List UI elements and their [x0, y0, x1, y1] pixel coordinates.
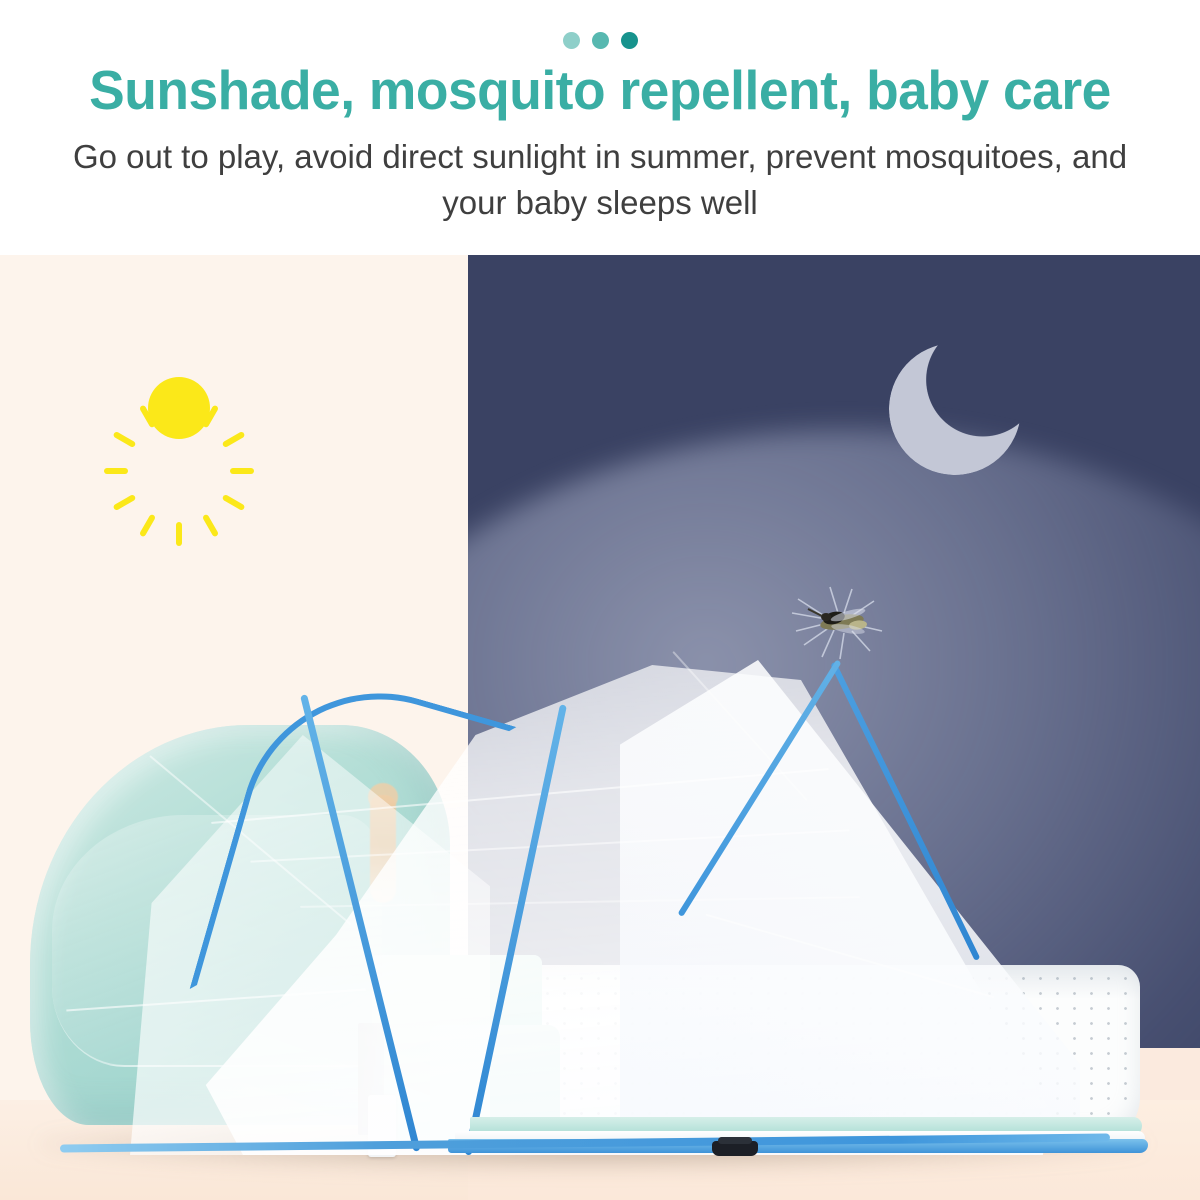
decorative-dots	[0, 32, 1200, 49]
black-clip-handle	[712, 1141, 758, 1156]
dot-light-icon	[563, 32, 580, 49]
page-subtitle: Go out to play, avoid direct sunlight in…	[48, 134, 1153, 225]
dot-medium-icon	[592, 32, 609, 49]
product-promo-poster: Sunshade, mosquito repellent, baby care …	[0, 0, 1200, 1200]
page-title: Sunshade, mosquito repellent, baby care	[18, 58, 1182, 122]
scene-imagery	[0, 255, 1200, 1200]
product-image	[0, 255, 1200, 1200]
header-band: Sunshade, mosquito repellent, baby care …	[0, 0, 1200, 255]
dot-dark-icon	[621, 32, 638, 49]
